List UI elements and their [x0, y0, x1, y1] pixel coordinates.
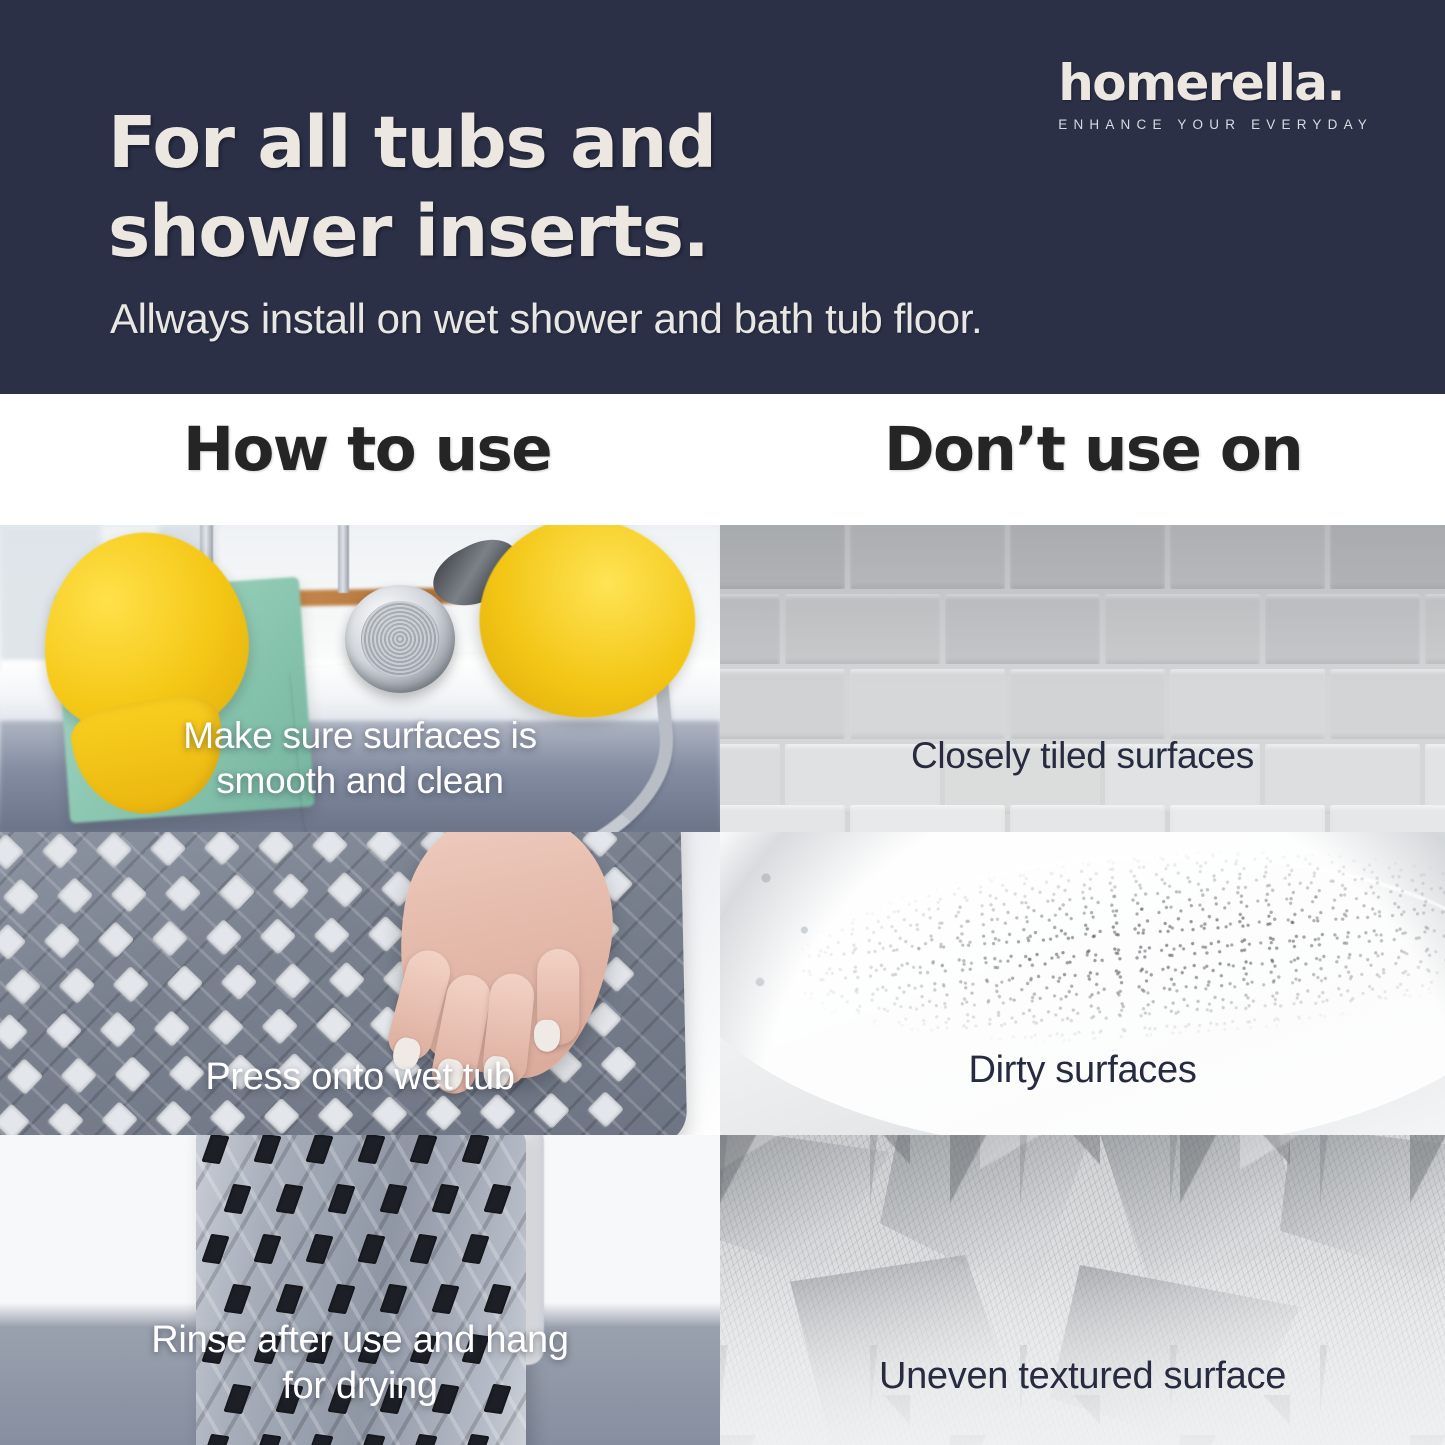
caption-line-1: Closely tiled surfaces [720, 733, 1445, 778]
panel-caption: Make sure surfaces is smooth and clean [0, 713, 720, 803]
section-title-how-to-use: How to use [183, 414, 551, 485]
tile-shading [720, 525, 1445, 832]
caption-line-1: Uneven textured surface [720, 1353, 1445, 1399]
caption-line-2: for drying [0, 1363, 720, 1409]
caption-line-1: Make sure surfaces is [0, 713, 720, 758]
panel-caption: Dirty surfaces [720, 1047, 1445, 1093]
header-subline: Allways install on wet shower and bath t… [110, 295, 1290, 343]
panel-rinse-and-hang: Rinse after use and hang for drying [0, 1135, 720, 1445]
panel-closely-tiled-surfaces: Closely tiled surfaces [720, 525, 1445, 832]
caption-line-1: Dirty surfaces [720, 1047, 1445, 1093]
page-headline: For all tubs and shower inserts. [108, 98, 868, 277]
logo-tagline: ENHANCE YOUR EVERYDAY [1058, 117, 1373, 132]
shower-pipe-secondary [338, 525, 349, 593]
headline-line-1: For all tubs and [108, 101, 716, 184]
panel-caption: Closely tiled surfaces [720, 733, 1445, 778]
panel-dirty-surfaces: Dirty surfaces [720, 832, 1445, 1135]
caption-line-1: Press onto wet tub [0, 1054, 720, 1100]
section-title-band: How to use Don’t use on [0, 394, 1445, 525]
panel-press-onto-wet-tub: Press onto wet tub [0, 832, 720, 1135]
panel-grid: Make sure surfaces is smooth and clean [0, 525, 1445, 1445]
logo-wordmark: homerella. [1058, 58, 1373, 108]
showerhead-icon [345, 585, 455, 693]
panel-caption: Rinse after use and hang for drying [0, 1317, 720, 1410]
caption-line-1: Rinse after use and hang [0, 1317, 720, 1363]
panel-make-sure-surfaces: Make sure surfaces is smooth and clean [0, 525, 720, 832]
brand-logo: homerella. ENHANCE YOUR EVERYDAY [1058, 58, 1373, 132]
caption-line-2: smooth and clean [0, 758, 720, 803]
header-banner: For all tubs and shower inserts. Allways… [0, 0, 1445, 394]
water-droplets [730, 842, 850, 1042]
panel-uneven-textured-surface: Uneven textured surface [720, 1135, 1445, 1445]
headline-line-2: shower inserts. [108, 187, 868, 276]
section-title-dont-use-on: Don’t use on [884, 414, 1302, 485]
panel-caption: Uneven textured surface [720, 1353, 1445, 1399]
panel-caption: Press onto wet tub [0, 1054, 720, 1100]
infographic-page: For all tubs and shower inserts. Allways… [0, 0, 1445, 1445]
